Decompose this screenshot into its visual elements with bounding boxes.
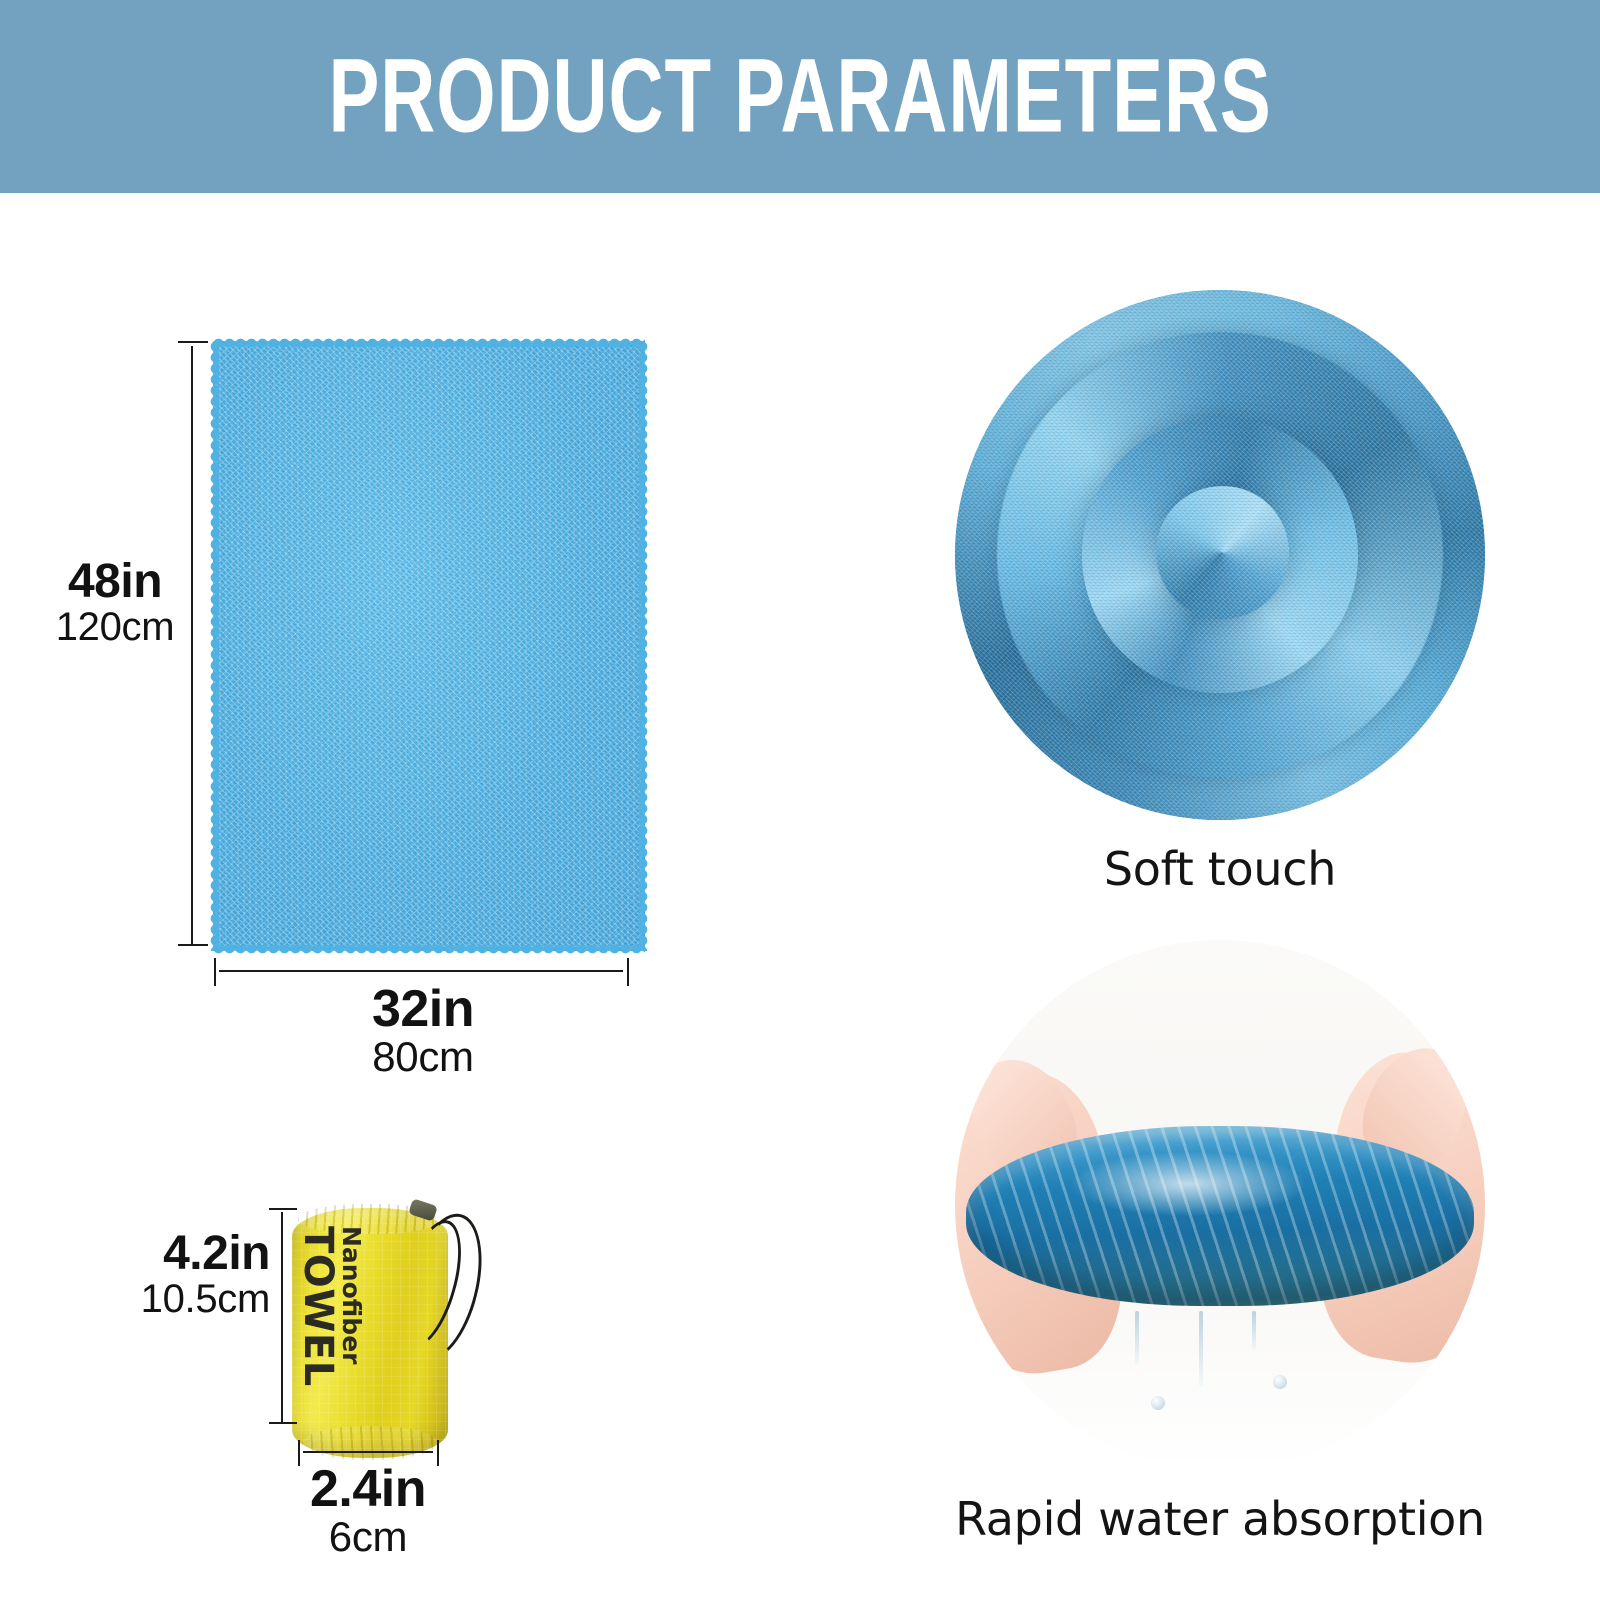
page-title: PRODUCT PARAMETERS [328, 36, 1271, 156]
water-drip-2 [1199, 1311, 1203, 1387]
towel-width-label: 32in 80cm [228, 983, 618, 1079]
towel-height-tick-top [178, 341, 208, 343]
wringing-towel-photo [955, 940, 1485, 1470]
pouch-width-dimension-line [303, 1451, 433, 1453]
feature-caption-rapid-water-absorption: Rapid water absorption [900, 1492, 1540, 1546]
towel-width-metric: 80cm [228, 1036, 618, 1079]
pouch-illustration: Nanofiber TOWEL [292, 1208, 452, 1458]
water-drip-3 [1252, 1311, 1256, 1351]
pouch-height-inches: 4.2in [140, 1230, 270, 1279]
towel-swatch [213, 341, 645, 951]
towel-width-tick-right [627, 958, 629, 986]
pouch-height-dimension-line [281, 1212, 283, 1424]
pouch-width-inches: 2.4in [258, 1463, 478, 1516]
pouch-height-tick-bottom [269, 1422, 297, 1424]
pouch-width-label: 2.4in 6cm [258, 1463, 478, 1559]
pouch-product-text: TOWEL [297, 1226, 339, 1444]
towel-fabric-texture [213, 341, 645, 951]
pouch-height-label: 4.2in 10.5cm [140, 1230, 270, 1320]
towel-highlight [1072, 1152, 1305, 1216]
photo-vignette [955, 290, 1485, 820]
towel-height-inches: 48in [50, 558, 180, 607]
feature-soft-touch: Soft touch [900, 290, 1540, 896]
towel-height-metric: 120cm [50, 607, 180, 648]
towel-width-tick-left [214, 958, 216, 986]
feature-caption-soft-touch: Soft touch [900, 842, 1540, 896]
swirled-fabric-photo [955, 290, 1485, 820]
page-header: PRODUCT PARAMETERS [0, 0, 1600, 193]
pouch-label-text: Nanofiber TOWEL [312, 1226, 364, 1444]
water-drip-1 [1135, 1311, 1139, 1365]
pouch-width-metric: 6cm [258, 1516, 478, 1559]
towel-height-tick-bottom [178, 944, 208, 946]
towel-height-dimension-line [191, 346, 193, 946]
towel-dimension-figure: 48in 120cm 32in 80cm [0, 193, 820, 1113]
pouch-dimension-figure: Nanofiber TOWEL 4.2in 10.5cm 2.4in 6cm [0, 1130, 820, 1600]
pouch-height-metric: 10.5cm [140, 1279, 270, 1320]
towel-height-label: 48in 120cm [50, 558, 180, 648]
pouch-height-tick-top [269, 1208, 297, 1210]
towel-width-dimension-line [219, 970, 623, 972]
water-droplet-1 [1151, 1396, 1165, 1410]
water-droplet-2 [1273, 1375, 1287, 1389]
pouch-brand-text: Nanofiber [339, 1226, 364, 1444]
feature-rapid-water-absorption: Rapid water absorption [900, 940, 1540, 1546]
towel-width-inches: 32in [228, 983, 618, 1036]
